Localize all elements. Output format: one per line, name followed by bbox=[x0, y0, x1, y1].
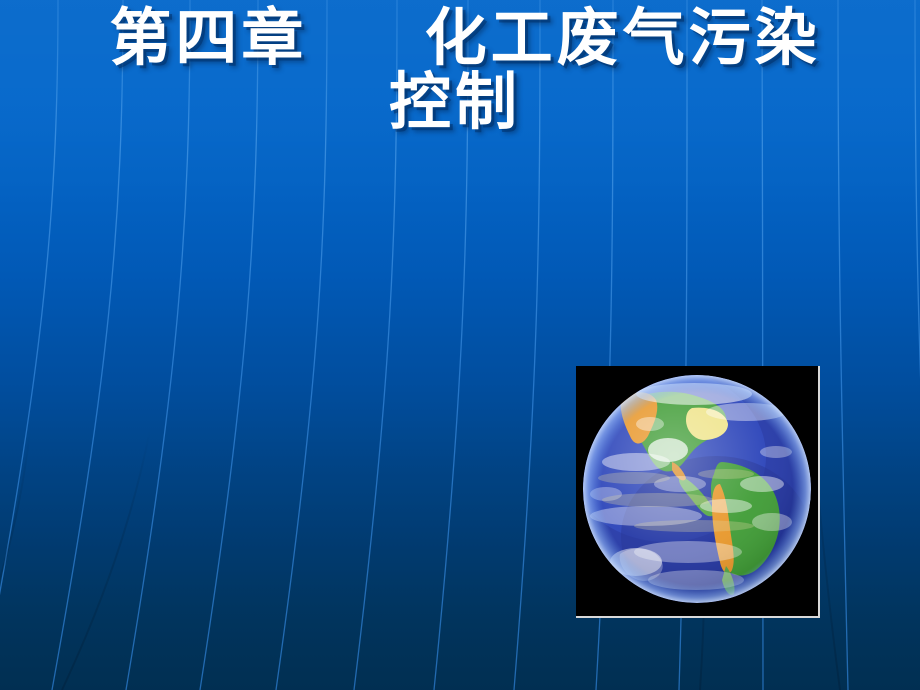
presentation-slide: 第四章 化工废气污染 控制 bbox=[0, 0, 920, 690]
earth-globe-picture bbox=[576, 366, 820, 618]
